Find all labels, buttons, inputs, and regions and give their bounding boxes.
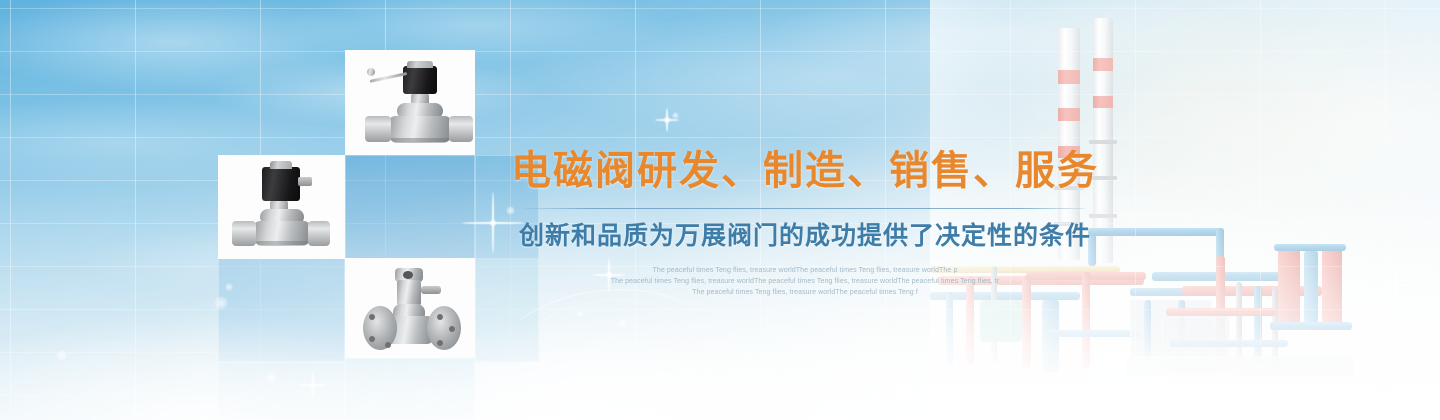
flange-bolt [385,342,391,348]
product-image-solenoid-valve-threaded-with-lever [345,50,475,155]
fineprint-line: The peaceful times Teng flies, treasure … [505,265,1105,276]
page-title: 电磁阀研发、制造、销售、服务 [505,148,1105,194]
valve-coil [403,66,437,94]
valve-port-left [365,116,391,142]
hero-banner: 电磁阀研发、制造、销售、服务 创新和品质为万展阀门的成功提供了决定性的条件 Th… [0,0,1440,420]
product-image-solenoid-valve-threaded-brass [218,155,345,259]
valve-conduit [298,177,312,186]
valve-port-right [308,221,330,246]
valve-flange-left [363,306,397,350]
divider [525,208,1085,209]
flange-bolt [437,340,443,346]
valve-flange-right [427,306,461,350]
product-thumbnail-3[interactable] [345,258,475,358]
valve-conduit [421,286,441,294]
product-thumbnail-2[interactable] [218,155,345,259]
flange-bolt [437,314,443,320]
valve-port-left [232,221,256,246]
valve-actuator-bore [403,271,413,279]
valve-cap [407,61,433,68]
valve-cap [270,161,292,169]
valve-body-shadow [256,241,308,246]
fineprint-line: The peaceful times Teng flies, treasure … [505,287,1105,298]
valve-lever [370,72,408,83]
flange-bolt [369,336,375,342]
valve-actuator-barrel [397,280,421,306]
product-image-solenoid-valve-flanged [345,258,475,358]
flange-bolt [449,326,455,332]
valve-coil [262,167,300,201]
page-subtitle: 创新和品质为万展阀门的成功提供了决定性的条件 [505,221,1105,251]
valve-port-right [449,116,473,142]
valve-lever-knob [367,68,375,76]
hero-copy: 电磁阀研发、制造、销售、服务 创新和品质为万展阀门的成功提供了决定性的条件 Th… [505,148,1105,298]
fineprint-block: The peaceful times Teng flies, treasure … [505,265,1105,298]
product-thumbnail-1[interactable] [345,50,475,155]
valve-body-shadow [391,138,449,143]
fineprint-line: The peaceful times Teng flies, treasure … [505,276,1105,287]
flange-bolt [369,314,375,320]
